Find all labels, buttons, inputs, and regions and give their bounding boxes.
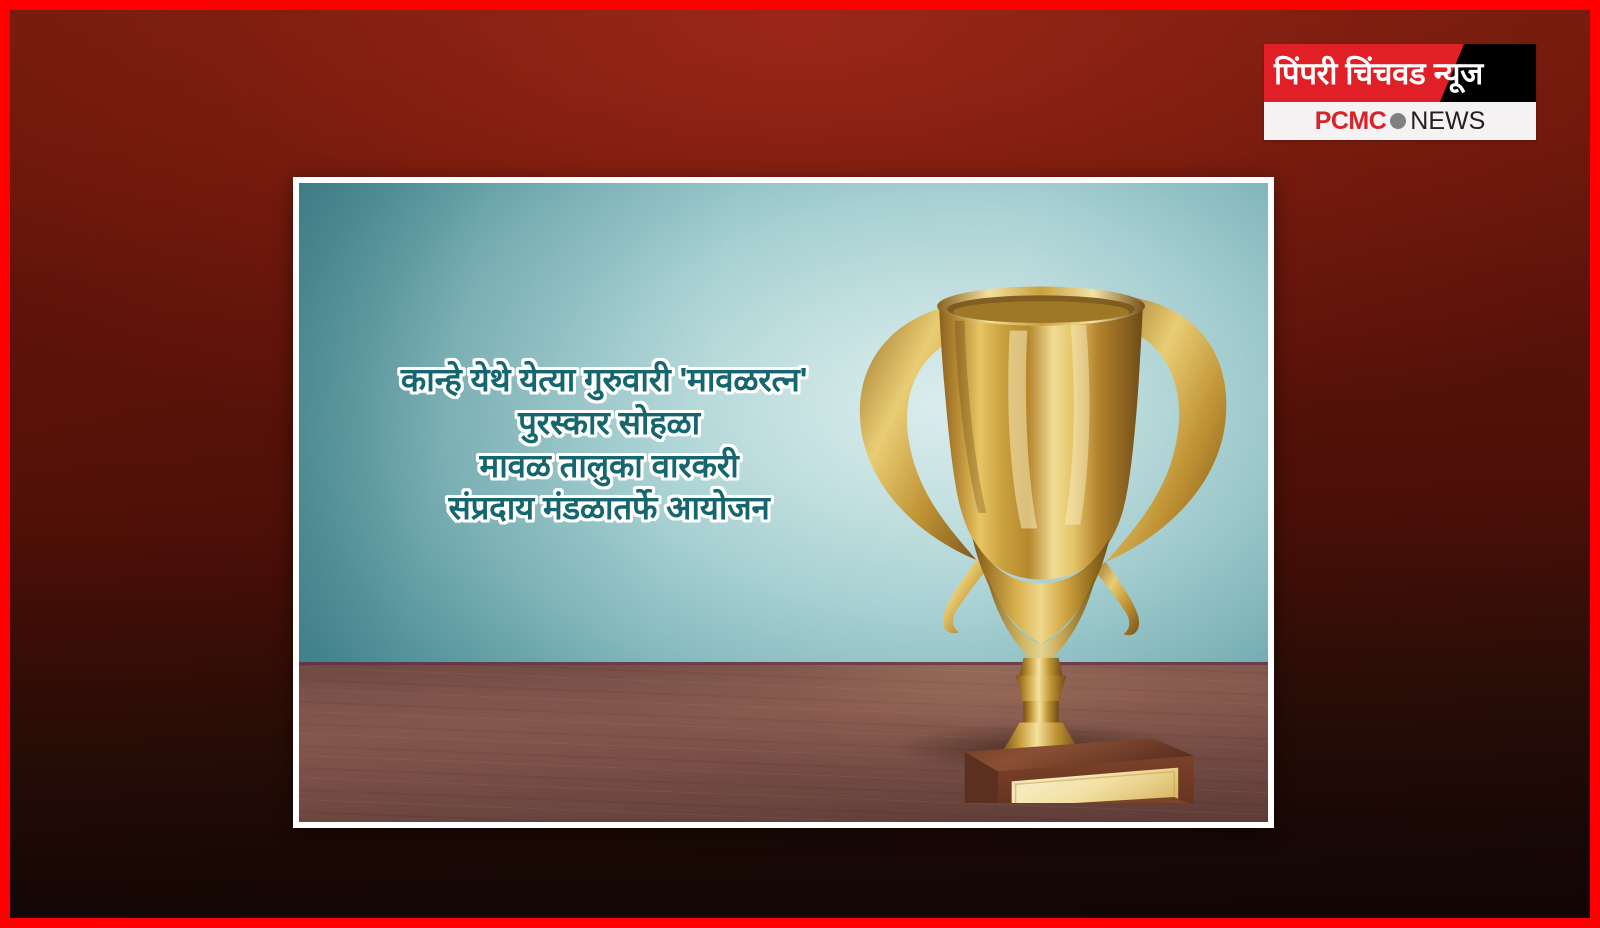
logo-subbrand-band: PCMC NEWS [1264,102,1536,140]
logo-subbrand-news: NEWS [1410,107,1485,136]
headline-line-3: मावळ तालुका वारकरी [318,445,899,488]
logo-separator-dot-icon [1390,113,1406,129]
trophy-photo: कान्हे येथे येत्या गुरुवारी 'मावळरत्न' प… [299,183,1268,822]
screenshot-root: पिंपरी चिंचवड न्यूज PCMC NEWS [0,0,1600,928]
logo-subbrand-pcmc: PCMC [1315,107,1387,136]
headline-line-1: कान्हे येथे येत्या गुरुवारी 'मावळरत्न' [308,359,899,402]
headline-line-4: संप्रदाय मंडळातर्फे आयोजन [318,487,899,530]
logo-masthead-band: पिंपरी चिंचवड न्यूज [1264,44,1536,102]
pimpri-chinchwad-news-logo[interactable]: पिंपरी चिंचवड न्यूज PCMC NEWS [1264,44,1536,140]
headline-overlay: कान्हे येथे येत्या गुरुवारी 'मावळरत्न' प… [318,359,899,531]
headline-line-2: पुरस्कार सोहळा [318,402,899,445]
logo-masthead-text: पिंपरी चिंचवड न्यूज [1264,44,1536,102]
news-photo-card: कान्हे येथे येत्या गुरुवारी 'मावळरत्न' प… [293,177,1274,828]
